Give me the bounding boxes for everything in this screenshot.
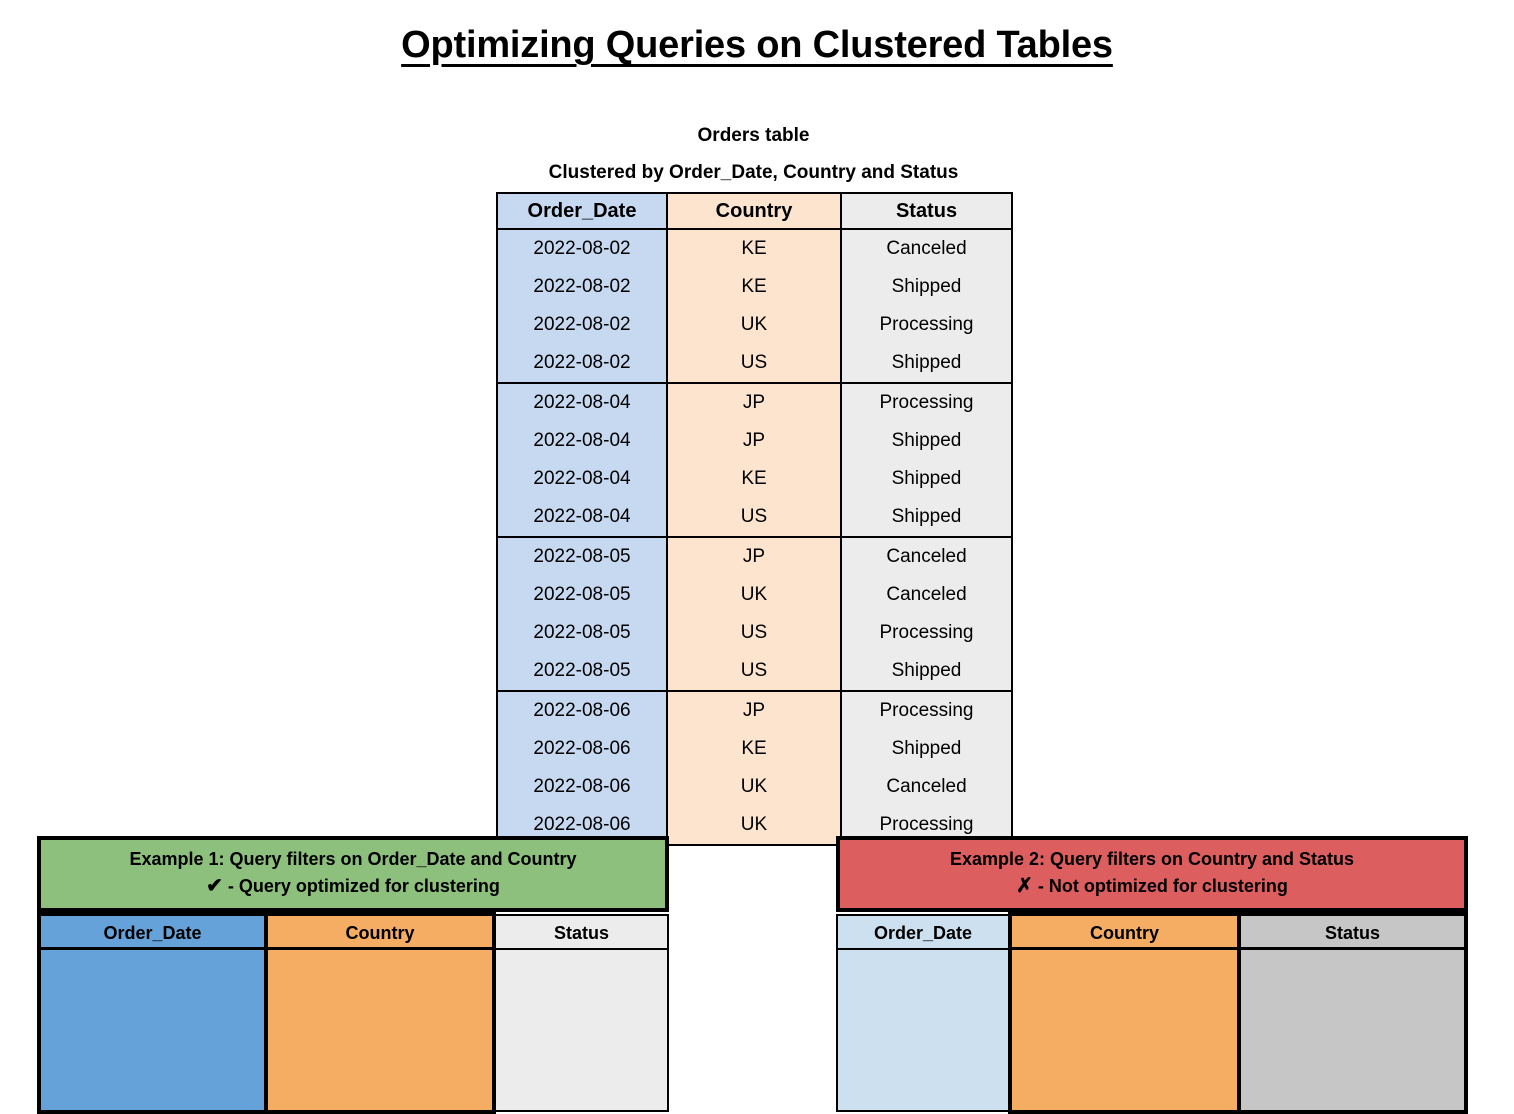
cell-order-date: 2022-08-04 — [497, 460, 667, 498]
example-1-block: Example 1: Query filters on Order_Date a… — [37, 836, 669, 1114]
table-row: 2022-08-02 KE Shipped — [497, 268, 1012, 306]
example-1-column-country: Country — [266, 912, 496, 1114]
check-icon: ✔ — [206, 875, 223, 897]
cell-order-date: 2022-08-05 — [497, 614, 667, 652]
orders-table-clustering-note: Clustered by Order_Date, Country and Sta… — [496, 161, 1011, 185]
cell-order-date: 2022-08-06 — [497, 691, 667, 730]
example-2-body-country — [1012, 950, 1237, 1110]
table-row: 2022-08-02 US Shipped — [497, 344, 1012, 383]
cell-country: UK — [667, 306, 841, 344]
cell-status: Shipped — [841, 730, 1012, 768]
orders-table-header-row: Order_Date Country Status — [497, 193, 1012, 229]
example-1-body-country — [268, 950, 492, 1110]
orders-col-header-country: Country — [667, 193, 841, 229]
cell-status: Processing — [841, 614, 1012, 652]
cell-country: JP — [667, 422, 841, 460]
cell-status: Canceled — [841, 768, 1012, 806]
cell-country: JP — [667, 691, 841, 730]
cell-country: US — [667, 652, 841, 691]
table-row: 2022-08-05 US Shipped — [497, 652, 1012, 691]
orders-table-section: Orders table Clustered by Order_Date, Co… — [496, 124, 1011, 846]
example-1-verdict-text: - Query optimized for clustering — [223, 876, 500, 896]
cross-icon: ✗ — [1016, 875, 1033, 897]
example-2-verdict-text: - Not optimized for clustering — [1033, 876, 1288, 896]
example-1-body-status — [496, 950, 667, 1110]
table-row: 2022-08-06 JP Processing — [497, 691, 1012, 730]
example-1-banner-line-2: ✔ - Query optimized for clustering — [41, 873, 665, 900]
table-row: 2022-08-04 JP Processing — [497, 383, 1012, 422]
example-2-column-order-date: Order_Date — [836, 914, 1008, 1112]
example-2-header-status: Status — [1241, 916, 1464, 950]
table-row: 2022-08-04 JP Shipped — [497, 422, 1012, 460]
example-2-block: Example 2: Query filters on Country and … — [836, 836, 1468, 1114]
example-1-table: Order_Date Country Status — [37, 912, 669, 1114]
example-2-header-order-date: Order_Date — [838, 916, 1008, 950]
cell-status: Processing — [841, 383, 1012, 422]
example-2-header-country: Country — [1012, 916, 1237, 950]
example-2-banner: Example 2: Query filters on Country and … — [836, 836, 1468, 912]
cell-country: KE — [667, 730, 841, 768]
table-row: 2022-08-05 JP Canceled — [497, 537, 1012, 576]
example-1-header-country: Country — [268, 916, 492, 950]
cell-order-date: 2022-08-02 — [497, 268, 667, 306]
orders-col-header-status: Status — [841, 193, 1012, 229]
example-2-column-status: Status — [1239, 912, 1468, 1114]
cell-status: Shipped — [841, 498, 1012, 537]
cell-status: Shipped — [841, 422, 1012, 460]
cell-status: Shipped — [841, 268, 1012, 306]
cell-country: UK — [667, 576, 841, 614]
cell-order-date: 2022-08-02 — [497, 229, 667, 268]
table-row: 2022-08-05 UK Canceled — [497, 576, 1012, 614]
cell-order-date: 2022-08-05 — [497, 537, 667, 576]
example-2-column-country: Country — [1008, 912, 1239, 1114]
example-1-banner: Example 1: Query filters on Order_Date a… — [37, 836, 669, 912]
cell-status: Processing — [841, 691, 1012, 730]
cell-order-date: 2022-08-06 — [497, 768, 667, 806]
table-row: 2022-08-06 UK Canceled — [497, 768, 1012, 806]
example-2-body-status — [1241, 950, 1464, 1110]
table-row: 2022-08-04 US Shipped — [497, 498, 1012, 537]
cell-status: Shipped — [841, 652, 1012, 691]
orders-table: Order_Date Country Status 2022-08-02 KE … — [496, 192, 1013, 846]
cell-status: Processing — [841, 306, 1012, 344]
cell-country: JP — [667, 383, 841, 422]
cell-country: US — [667, 498, 841, 537]
example-2-table: Order_Date Country Status — [836, 912, 1468, 1114]
cell-country: KE — [667, 268, 841, 306]
cell-order-date: 2022-08-05 — [497, 652, 667, 691]
table-row: 2022-08-05 US Processing — [497, 614, 1012, 652]
example-1-banner-line-1: Example 1: Query filters on Order_Date a… — [41, 846, 665, 873]
cell-country: KE — [667, 460, 841, 498]
cell-status: Canceled — [841, 229, 1012, 268]
cell-order-date: 2022-08-04 — [497, 383, 667, 422]
example-1-header-status: Status — [496, 916, 667, 950]
example-2-body-order-date — [838, 950, 1008, 1110]
cell-status: Shipped — [841, 460, 1012, 498]
example-1-header-order-date: Order_Date — [41, 916, 264, 950]
table-row: 2022-08-04 KE Shipped — [497, 460, 1012, 498]
example-1-body-order-date — [41, 950, 264, 1110]
cell-order-date: 2022-08-04 — [497, 422, 667, 460]
cell-status: Canceled — [841, 537, 1012, 576]
cell-order-date: 2022-08-06 — [497, 730, 667, 768]
orders-table-caption: Orders table — [496, 124, 1011, 148]
table-row: 2022-08-06 KE Shipped — [497, 730, 1012, 768]
orders-col-header-order-date: Order_Date — [497, 193, 667, 229]
example-2-banner-line-1: Example 2: Query filters on Country and … — [840, 846, 1464, 873]
cell-country: US — [667, 614, 841, 652]
table-row: 2022-08-02 KE Canceled — [497, 229, 1012, 268]
cell-status: Shipped — [841, 344, 1012, 383]
cell-country: UK — [667, 806, 841, 845]
cell-country: US — [667, 344, 841, 383]
cell-status: Canceled — [841, 576, 1012, 614]
cell-country: UK — [667, 768, 841, 806]
cell-order-date: 2022-08-02 — [497, 306, 667, 344]
example-1-column-status: Status — [496, 914, 669, 1112]
cell-order-date: 2022-08-05 — [497, 576, 667, 614]
table-row: 2022-08-02 UK Processing — [497, 306, 1012, 344]
cell-country: KE — [667, 229, 841, 268]
cell-order-date: 2022-08-04 — [497, 498, 667, 537]
page-title: Optimizing Queries on Clustered Tables — [0, 24, 1514, 67]
cell-country: JP — [667, 537, 841, 576]
example-1-column-order-date: Order_Date — [37, 912, 266, 1114]
cell-order-date: 2022-08-02 — [497, 344, 667, 383]
example-2-banner-line-2: ✗ - Not optimized for clustering — [840, 873, 1464, 900]
